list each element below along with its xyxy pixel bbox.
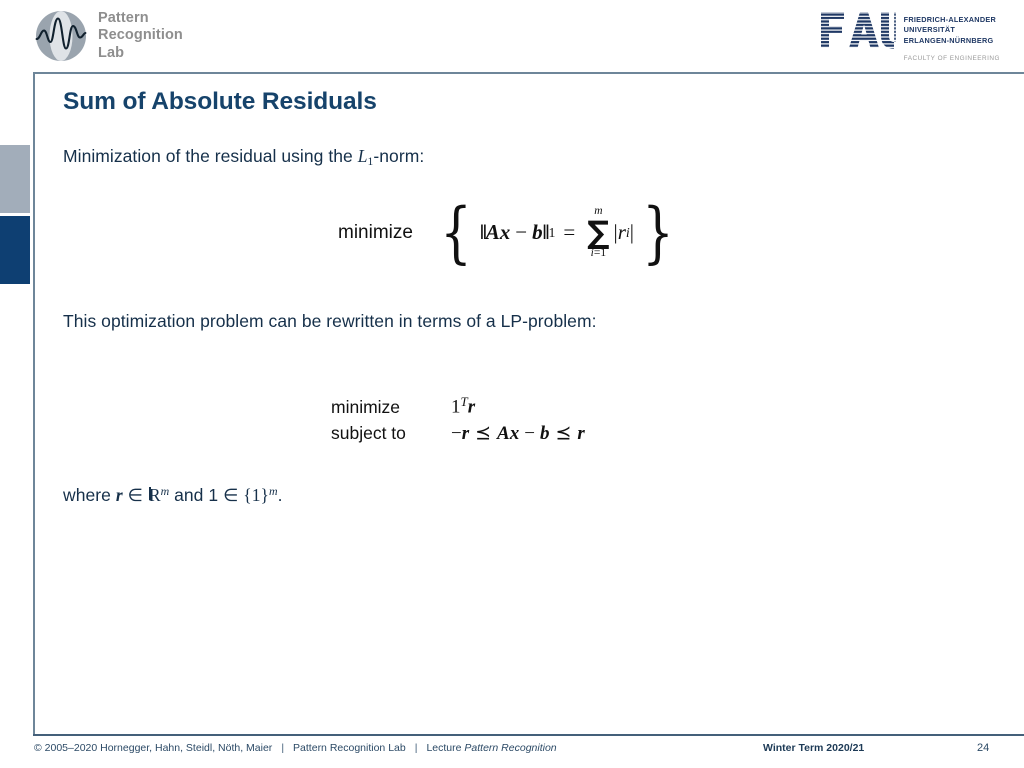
equation1-label: minimize [338,222,413,244]
sigma-glyph-icon: ∑ [587,218,609,248]
lp-vector-r: r [468,397,475,418]
frame-bottom-rule [33,734,1024,736]
lp-intro-paragraph: This optimization problem can be rewritt… [63,311,596,332]
footer-page-number: 24 [977,742,989,754]
section-marker-active [0,216,30,284]
lp-problem-block: minimize 1Tr subject to −r⪯Ax−b⪯r [331,394,585,450]
matrix-A: A [486,220,500,245]
footer-credits: © 2005–2020 Hornegger, Hahn, Steidl, Nöt… [34,742,557,754]
constraint-matrix-A: A [497,423,510,444]
slide-footer: © 2005–2020 Hornegger, Hahn, Steidl, Nöt… [0,742,1024,764]
intro-paragraph: Minimization of the residual using the L… [63,146,424,168]
dimension-superscript-1: m [161,484,170,498]
fau-name-line-3: ERLANGEN-NÜRNBERG [904,36,1000,46]
footer-separator-1: | [272,742,293,754]
transpose-superscript: T [461,394,468,409]
pattern-recognition-lab-logo: Pattern Recognition Lab [33,8,183,64]
footer-term: Winter Term 2020/21 [763,742,864,754]
where-period: . [278,485,283,505]
lp-minimize-label: minimize [331,397,451,418]
pattern-recognition-lab-wordmark: Pattern Recognition Lab [98,10,183,62]
fau-wordmark-text: FRIEDRICH-ALEXANDER UNIVERSITÄT ERLANGEN… [904,10,1000,62]
lp-constraint-expression: −r⪯Ax−b⪯r [451,422,585,445]
residual-r: r [618,220,626,245]
frame-top-rule [33,72,1024,74]
constraint-r-right: r [577,423,584,444]
footer-lab-name: Pattern Recognition Lab [293,742,406,754]
norm-subscript-1: 1 [548,225,555,241]
equation-minimize-l1-norm: minimize { ‖Ax−b‖1= m ∑ i=1 |ri| } [338,206,679,259]
preceq-operator-right: ⪯ [549,422,577,445]
fau-logo: FRIEDRICH-ALEXANDER UNIVERSITÄT ERLANGEN… [820,10,1000,62]
footer-lecture-title: Pattern Recognition [464,742,556,754]
fau-name-line-2: UNIVERSITÄT [904,25,1000,35]
abs-close-bar: | [630,220,634,245]
footer-copyright: © 2005–2020 Hornegger, Hahn, Steidl, Nöt… [34,742,272,754]
set-close-brace: } [261,485,269,505]
prlab-line-2: Recognition [98,27,183,44]
set-open-brace: { [243,485,251,505]
constraint-minus: − [451,423,462,444]
norm-symbol-L: L [358,146,368,166]
prlab-line-3: Lab [98,45,183,62]
slide-header: Pattern Recognition Lab FRIEDRICH-ALEXAN… [0,0,1024,72]
vector-b: b [532,220,543,245]
page-title: Sum of Absolute Residuals [63,88,377,116]
fau-name-line-1: FRIEDRICH-ALEXANDER [904,15,1000,25]
intro-text-pre: Minimization of the residual using the [63,146,358,166]
ones-vector: 1 [451,397,461,418]
intro-text-post: -norm: [373,146,424,166]
sum-lower-limit: i=1 [591,248,606,260]
real-numbers-symbol: R [148,485,161,505]
equation1-body: ‖Ax−b‖1= m ∑ i=1 |ri| [480,206,634,259]
footer-separator-2: | [406,742,427,754]
section-marker-gray [0,145,30,213]
where-label: where [63,485,116,505]
lp-constraint-row: subject to −r⪯Ax−b⪯r [331,422,585,450]
preceq-operator-left: ⪯ [469,422,497,445]
constraint-vector-x: x [510,423,520,444]
minus-operator: − [510,220,532,245]
where-clause-paragraph: where r ∈ Rm and 1 ∈ {1}m. [63,484,283,506]
lp-objective-row: minimize 1Tr [331,394,585,422]
lp-subject-to-label: subject to [331,423,451,444]
where-vector-r: r [116,485,123,505]
fau-striped-wordmark-icon [820,10,896,50]
footer-lecture-prefix: Lecture [426,742,464,754]
constraint-vector-b: b [540,423,550,444]
element-of-1: ∈ [123,485,148,505]
dimension-superscript-2: m [269,484,278,498]
constraint-minus-2: − [519,423,540,444]
fau-faculty-line: FACULTY OF ENGINEERING [904,55,1000,62]
and-element-of: and 1 ∈ [169,485,243,505]
summation-operator: m ∑ i=1 [587,206,609,259]
vector-x: x [500,220,511,245]
lp-objective-expression: 1Tr [451,394,475,419]
set-member-one: 1 [252,485,261,505]
prlab-line-1: Pattern [98,10,183,27]
constraint-r-left: r [462,423,469,444]
equals-operator: = [563,220,575,245]
pattern-recognition-lab-waveform-icon [33,8,89,64]
